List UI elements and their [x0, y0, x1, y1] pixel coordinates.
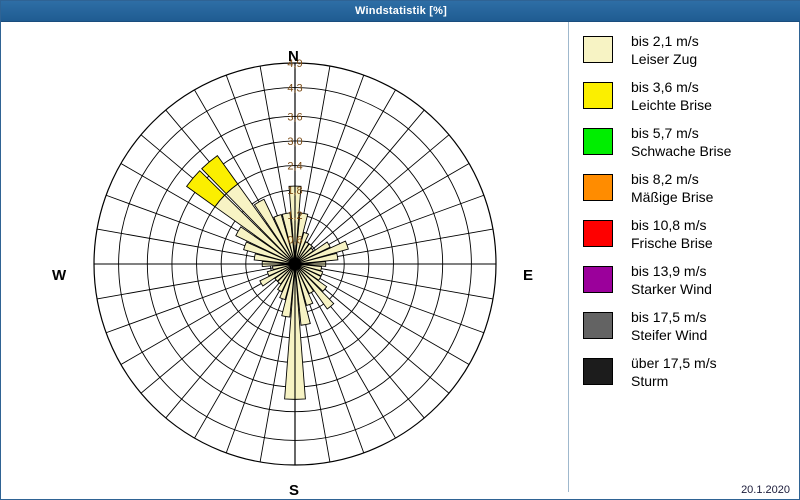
legend-name-text: Frische Brise	[631, 234, 799, 252]
legend: bis 2,1 m/sLeiser Zugbis 3,6 m/sLeichte …	[568, 22, 799, 492]
legend-speed-text: bis 3,6 m/s	[631, 78, 799, 96]
radial-tick-label: 1,2	[287, 210, 302, 222]
legend-item[interactable]: bis 3,6 m/sLeichte Brise	[583, 80, 799, 125]
legend-label: bis 13,9 m/sStarker Wind	[631, 262, 799, 298]
footer-date: 20.1.2020	[741, 484, 790, 496]
legend-label: bis 8,2 m/sMäßige Brise	[631, 170, 799, 206]
legend-label: über 17,5 m/sSturm	[631, 354, 799, 390]
legend-color-swatch	[583, 36, 613, 63]
legend-color-swatch	[583, 82, 613, 109]
legend-item[interactable]: bis 2,1 m/sLeiser Zug	[583, 34, 799, 79]
legend-label: bis 2,1 m/sLeiser Zug	[631, 32, 799, 68]
legend-label: bis 3,6 m/sLeichte Brise	[631, 78, 799, 114]
legend-name-text: Leiser Zug	[631, 50, 799, 68]
legend-speed-text: bis 5,7 m/s	[631, 124, 799, 142]
legend-speed-text: bis 17,5 m/s	[631, 308, 799, 326]
legend-name-text: Leichte Brise	[631, 96, 799, 114]
rose-center-hub	[290, 259, 300, 269]
compass-label-north: N	[288, 48, 299, 65]
legend-speed-text: bis 8,2 m/s	[631, 170, 799, 188]
rose-center-dot	[290, 259, 300, 269]
radial-tick-label: 4,3	[287, 83, 302, 95]
wind-rose-window: Windstatistik [%] 0,61,21,82,43,03,64,34…	[0, 0, 800, 500]
legend-item[interactable]: bis 10,8 m/sFrische Brise	[583, 218, 799, 263]
legend-speed-text: bis 13,9 m/s	[631, 262, 799, 280]
legend-item[interactable]: bis 17,5 m/sSteifer Wind	[583, 310, 799, 355]
legend-speed-text: bis 10,8 m/s	[631, 216, 799, 234]
legend-color-swatch	[583, 220, 613, 247]
legend-color-swatch	[583, 128, 613, 155]
page-title: Windstatistik [%]	[1, 1, 800, 21]
chart-area: 0,61,21,82,43,03,64,34,9 N E S W bis 2,1…	[2, 22, 798, 498]
radial-tick-label: 1,8	[287, 185, 302, 197]
wind-rose-svg: 0,61,21,82,43,03,64,34,9	[2, 22, 562, 492]
radial-tick-label: 3,0	[287, 136, 302, 148]
legend-name-text: Schwache Brise	[631, 142, 799, 160]
radial-tick-label: 2,4	[287, 161, 302, 173]
legend-item[interactable]: bis 5,7 m/sSchwache Brise	[583, 126, 799, 171]
legend-label: bis 17,5 m/sSteifer Wind	[631, 308, 799, 344]
radial-tick-label: 0,6	[287, 234, 302, 246]
legend-color-swatch	[583, 312, 613, 339]
legend-label: bis 10,8 m/sFrische Brise	[631, 216, 799, 252]
legend-item[interactable]: bis 8,2 m/sMäßige Brise	[583, 172, 799, 217]
legend-name-text: Starker Wind	[631, 280, 799, 298]
legend-color-swatch	[583, 358, 613, 385]
wind-rose-sectors	[187, 156, 349, 400]
legend-color-swatch	[583, 266, 613, 293]
legend-speed-text: über 17,5 m/s	[631, 354, 799, 372]
legend-item[interactable]: bis 13,9 m/sStarker Wind	[583, 264, 799, 309]
compass-label-east: E	[523, 267, 533, 284]
legend-speed-text: bis 2,1 m/s	[631, 32, 799, 50]
compass-label-west: W	[52, 267, 66, 284]
legend-color-swatch	[583, 174, 613, 201]
legend-name-text: Sturm	[631, 372, 799, 390]
legend-label: bis 5,7 m/sSchwache Brise	[631, 124, 799, 160]
compass-label-south: S	[289, 482, 299, 499]
legend-item[interactable]: über 17,5 m/sSturm	[583, 356, 799, 401]
legend-name-text: Steifer Wind	[631, 326, 799, 344]
legend-name-text: Mäßige Brise	[631, 188, 799, 206]
wind-rose-plot: 0,61,21,82,43,03,64,34,9 N E S W	[2, 22, 562, 492]
radial-tick-label: 3,6	[287, 111, 302, 123]
window-title-bar: Windstatistik [%]	[1, 1, 800, 22]
